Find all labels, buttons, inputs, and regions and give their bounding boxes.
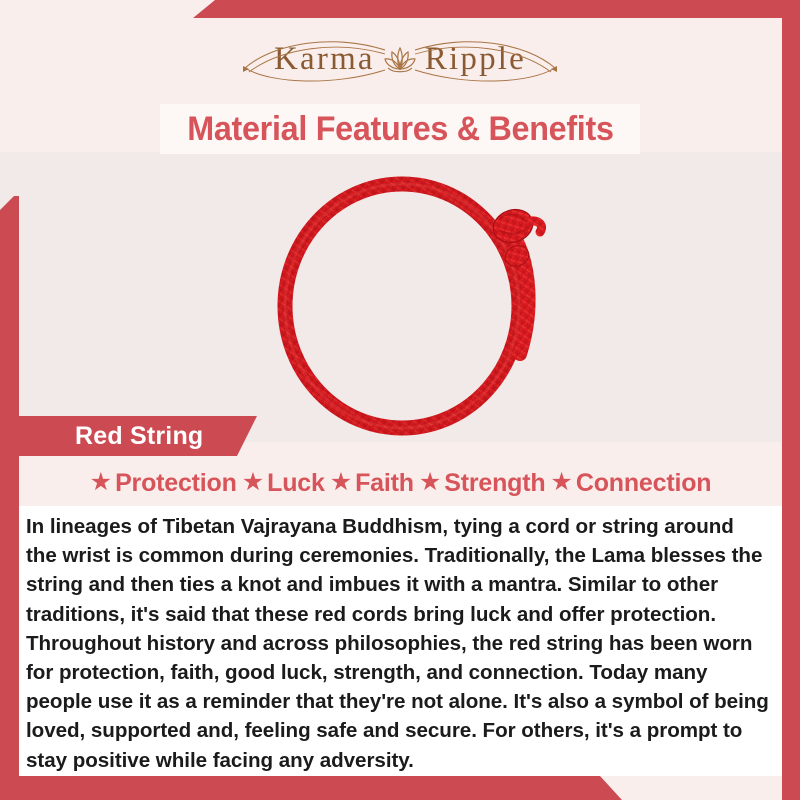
star-icon: ★ <box>330 470 352 495</box>
benefit-label: Luck <box>267 469 325 498</box>
benefit-item-protection: ★ Protection <box>90 469 237 498</box>
brand-logo-inner: Karma Ripple <box>274 39 526 79</box>
braided-bracelet-illustration <box>268 164 558 444</box>
frame-left-accent <box>0 196 19 800</box>
benefit-label: Protection <box>115 469 237 498</box>
brand-name-right: Ripple <box>425 43 526 76</box>
material-name: Red String <box>75 422 203 451</box>
description-panel: In lineages of Tibetan Vajrayana Buddhis… <box>19 506 782 776</box>
hero-panel <box>0 152 800 442</box>
brand-logo: Karma Ripple <box>0 24 800 94</box>
benefit-label: Strength <box>444 469 545 498</box>
benefit-label: Faith <box>355 469 414 498</box>
description-text: In lineages of Tibetan Vajrayana Buddhis… <box>19 506 782 775</box>
star-icon: ★ <box>90 470 112 495</box>
benefit-item-connection: ★ Connection <box>550 469 711 498</box>
star-icon: ★ <box>419 470 441 495</box>
benefit-item-faith: ★ Faith <box>330 469 414 498</box>
star-icon: ★ <box>242 470 264 495</box>
frame-bottom-accent <box>0 776 800 800</box>
frame-top-accent <box>0 0 800 18</box>
product-image-red-string-bracelet <box>268 164 558 444</box>
benefit-label: Connection <box>576 469 712 498</box>
lotus-icon <box>379 39 421 79</box>
benefit-item-strength: ★ Strength <box>419 469 546 498</box>
material-ribbon-label: Red String <box>19 416 257 456</box>
brand-name-left: Karma <box>274 43 375 76</box>
frame-right-accent <box>782 0 800 800</box>
product-infographic-page: Karma Ripple Material Features & Benefit… <box>0 0 800 800</box>
star-icon: ★ <box>550 470 572 495</box>
benefit-item-luck: ★ Luck <box>242 469 325 498</box>
page-title: Material Features & Benefits <box>187 110 613 149</box>
benefit-list: ★ Protection ★ Luck ★ Faith ★ Strength ★… <box>19 462 782 504</box>
page-title-band: Material Features & Benefits <box>160 104 640 154</box>
